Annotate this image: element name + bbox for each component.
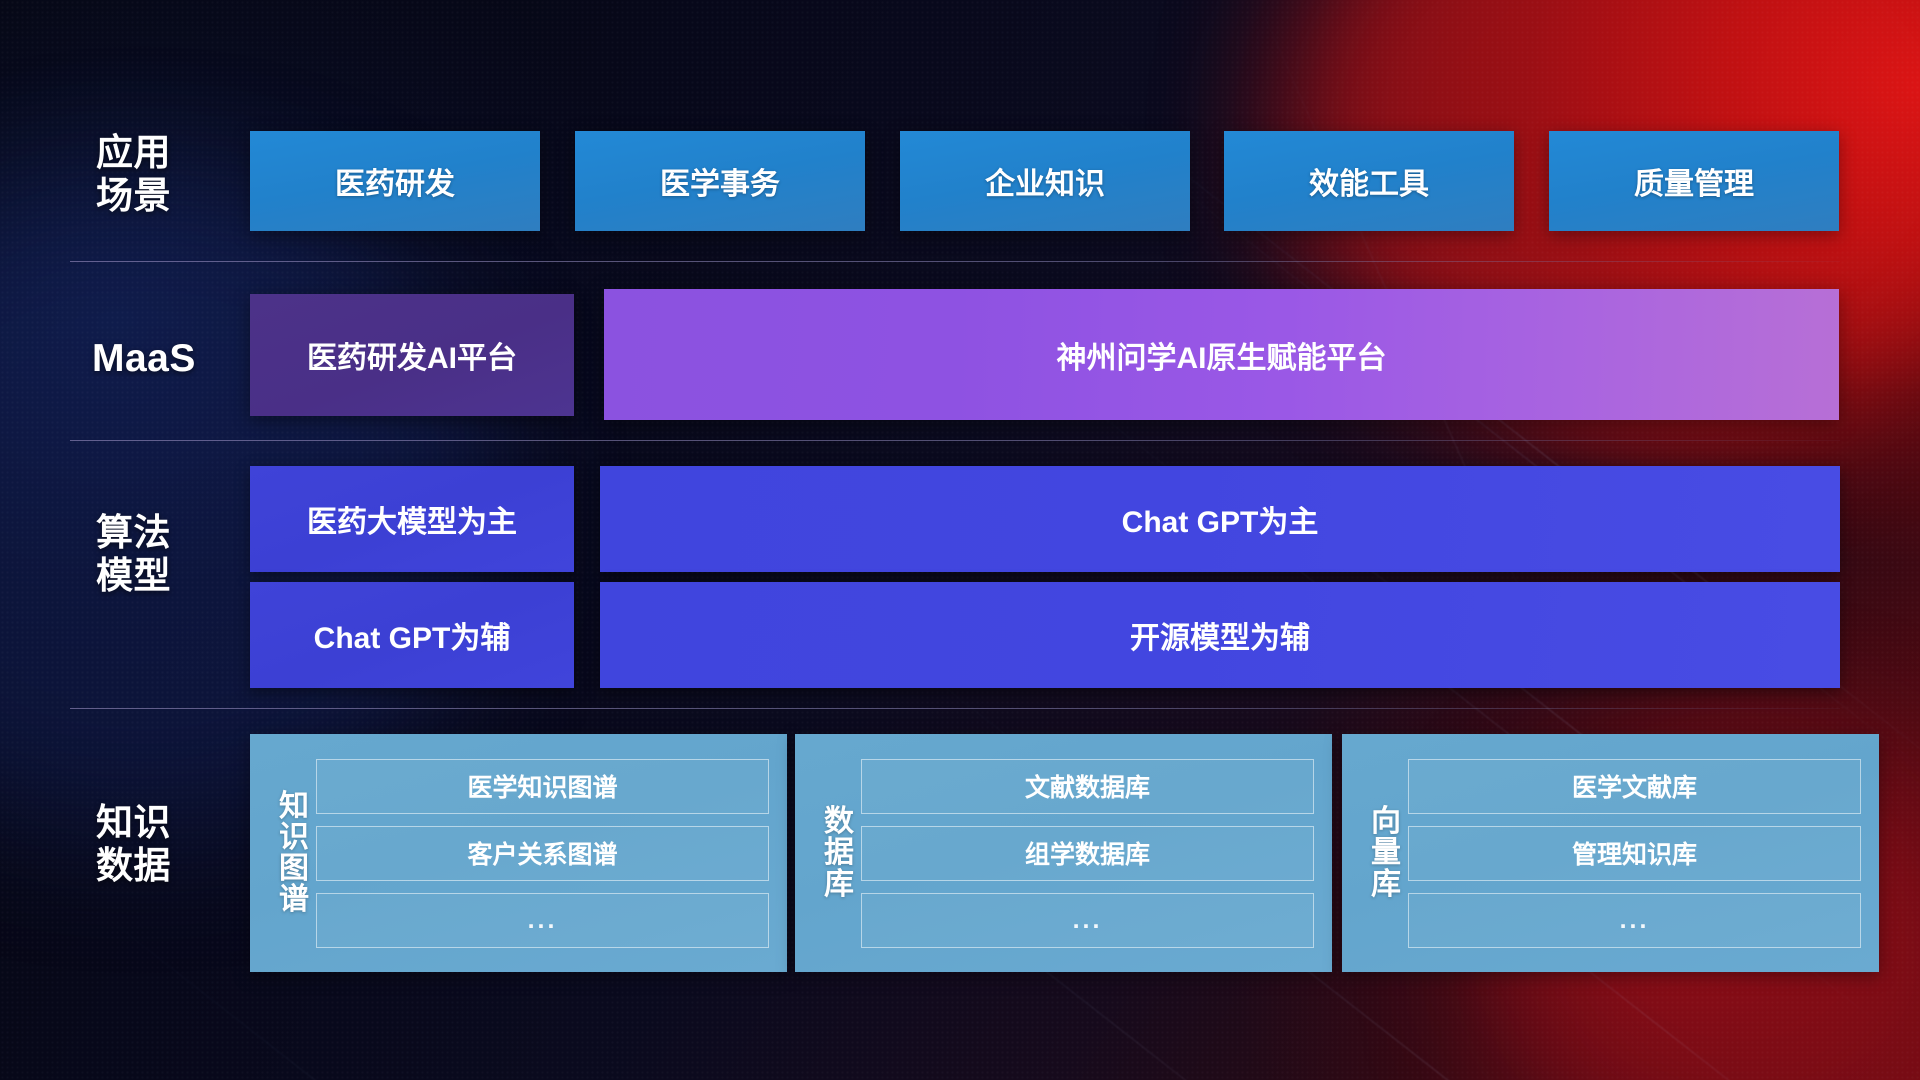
knowledge-item-label: ... (1620, 906, 1650, 935)
app-box-label: 效能工具 (1309, 159, 1429, 203)
app-box-1[interactable]: 医药研发 (250, 131, 540, 231)
algo-right-label: Chat GPT为主 (1122, 497, 1319, 541)
knowledge-item[interactable]: ... (1408, 893, 1861, 948)
knowledge-item[interactable]: 组学数据库 (861, 826, 1314, 881)
knowledge-item-label: 文献数据库 (1025, 768, 1150, 804)
divider-2 (70, 440, 1840, 441)
app-box-2[interactable]: 医学事务 (575, 131, 865, 231)
app-box-3[interactable]: 企业知识 (900, 131, 1190, 231)
knowledge-group-items: 医学知识图谱 客户关系图谱 ... (316, 753, 769, 954)
knowledge-item-label: 医学文献库 (1572, 768, 1697, 804)
knowledge-group-label: 向 量 库 (1364, 806, 1408, 900)
diagram-canvas: 应用 场景 医药研发 医学事务 企业知识 效能工具 质量管理 MaaS 医药研发… (0, 0, 1920, 1080)
algo-left-box-1[interactable]: 医药大模型为主 (250, 466, 574, 572)
row-label-application: 应用 场景 (96, 132, 246, 218)
row-label-algorithm: 算法 模型 (96, 512, 256, 598)
knowledge-item[interactable]: 医学知识图谱 (316, 759, 769, 814)
knowledge-item[interactable]: 客户关系图谱 (316, 826, 769, 881)
algo-left-label: Chat GPT为辅 (314, 613, 511, 657)
app-box-label: 质量管理 (1634, 159, 1754, 203)
row-label-knowledge: 知识 数据 (96, 802, 256, 888)
knowledge-item[interactable]: ... (861, 893, 1314, 948)
maas-left-box[interactable]: 医药研发AI平台 (250, 294, 574, 416)
knowledge-item[interactable]: 文献数据库 (861, 759, 1314, 814)
algo-right-box-1[interactable]: Chat GPT为主 (600, 466, 1840, 572)
knowledge-group-items: 文献数据库 组学数据库 ... (861, 753, 1314, 954)
knowledge-item[interactable]: 医学文献库 (1408, 759, 1861, 814)
knowledge-item-label: 管理知识库 (1572, 835, 1697, 871)
app-box-5[interactable]: 质量管理 (1549, 131, 1839, 231)
maas-right-label: 神州问学AI原生赋能平台 (1057, 333, 1387, 377)
knowledge-group-1[interactable]: 知 识 图 谱 医学知识图谱 客户关系图谱 ... (250, 734, 787, 972)
maas-right-box[interactable]: 神州问学AI原生赋能平台 (604, 289, 1839, 420)
app-box-label: 医学事务 (660, 159, 780, 203)
divider-1 (70, 261, 1840, 262)
knowledge-item[interactable]: ... (316, 893, 769, 948)
algo-right-label: 开源模型为辅 (1130, 613, 1310, 657)
algo-left-label: 医药大模型为主 (307, 497, 517, 541)
knowledge-item-label: 组学数据库 (1025, 835, 1150, 871)
knowledge-item-label: 医学知识图谱 (467, 768, 617, 804)
knowledge-item-label: 客户关系图谱 (467, 835, 617, 871)
knowledge-group-2[interactable]: 数 据 库 文献数据库 组学数据库 ... (795, 734, 1332, 972)
app-box-label: 医药研发 (335, 159, 455, 203)
knowledge-item-label: ... (528, 906, 558, 935)
algo-left-box-2[interactable]: Chat GPT为辅 (250, 582, 574, 688)
knowledge-group-label: 知 识 图 谱 (272, 791, 316, 916)
algo-right-box-2[interactable]: 开源模型为辅 (600, 582, 1840, 688)
app-box-label: 企业知识 (985, 159, 1105, 203)
knowledge-group-label: 数 据 库 (817, 806, 861, 900)
knowledge-item-label: ... (1073, 906, 1103, 935)
maas-left-label: 医药研发AI平台 (307, 333, 517, 377)
divider-3 (70, 708, 1840, 709)
knowledge-group-items: 医学文献库 管理知识库 ... (1408, 753, 1861, 954)
knowledge-group-3[interactable]: 向 量 库 医学文献库 管理知识库 ... (1342, 734, 1879, 972)
app-box-4[interactable]: 效能工具 (1224, 131, 1514, 231)
knowledge-item[interactable]: 管理知识库 (1408, 826, 1861, 881)
